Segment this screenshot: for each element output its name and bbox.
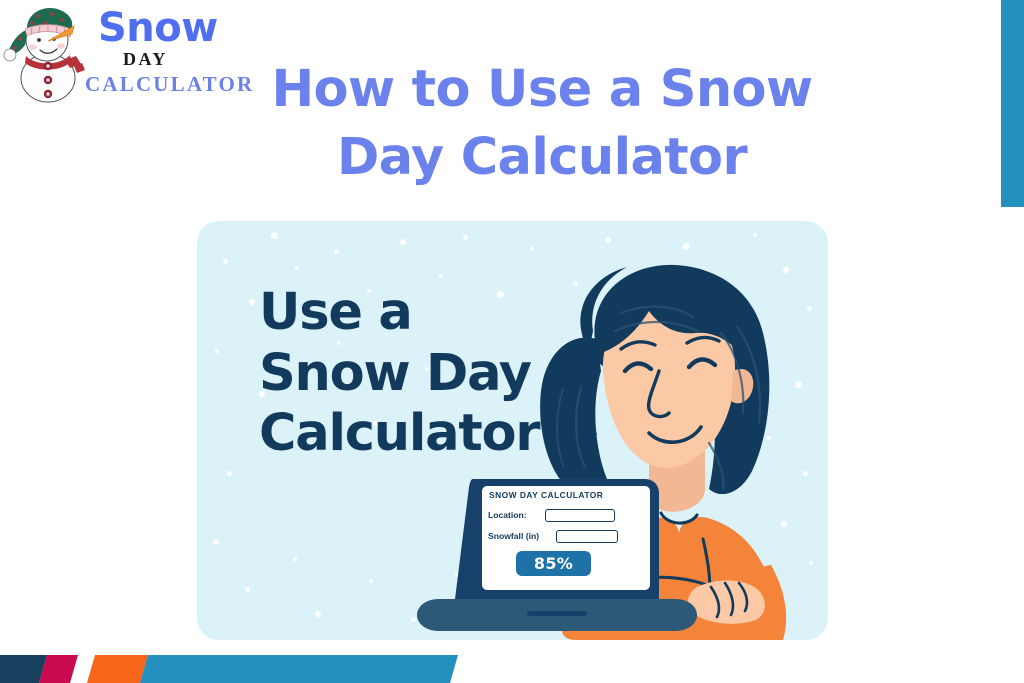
location-field-label: Location: [488, 510, 527, 520]
logo-line-snow: Snow [98, 8, 218, 48]
snowfall-field-label: Snowfall (in) [488, 531, 539, 541]
calculator-screen-title: SNOW DAY CALCULATOR [489, 490, 603, 500]
result-percentage-badge: 85% [516, 551, 591, 576]
snowfall-input[interactable] [556, 530, 618, 543]
logo-wordmark: Snow DAY CALCULATOR [90, 8, 234, 102]
laptop-screen-ui: SNOW DAY CALCULATOR Location: Snowfall (… [481, 485, 626, 585]
page-title: How to Use a Snow Day Calculator [262, 56, 822, 192]
page-root: Snow DAY CALCULATOR How to Use a Snow Da… [0, 0, 1024, 683]
right-edge-accent-bar [1001, 0, 1024, 207]
illustration-card: Use a Snow Day Calculator [197, 221, 828, 640]
site-logo[interactable]: Snow DAY CALCULATOR [2, 4, 234, 104]
stripe-navy [0, 655, 47, 683]
stripe-orange [87, 655, 148, 683]
stripe-teal [140, 655, 458, 683]
bottom-accent-stripes [0, 650, 1024, 683]
snowman-icon [2, 4, 94, 104]
location-input[interactable] [545, 509, 615, 522]
logo-line-day: DAY [123, 50, 168, 68]
logo-line-calculator: CALCULATOR [85, 74, 254, 95]
